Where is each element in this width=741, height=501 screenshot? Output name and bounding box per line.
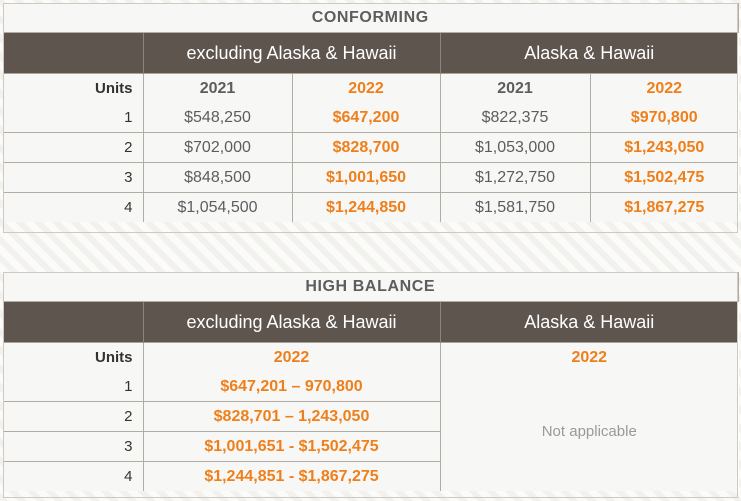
high-balance-row2-units: 2 (3, 402, 143, 432)
conforming-row2-2021-lower48: $702,000 (143, 133, 292, 163)
high-balance-row4-2022-lower48: $1,244,851 - $1,867,275 (143, 462, 440, 492)
conforming-title-row: CONFORMING (3, 3, 738, 33)
high-balance-row1-2022-lower48: $647,201 – 970,800 (143, 372, 440, 402)
conforming-table-card: CONFORMING excluding Alaska & Hawaii Ala… (3, 3, 738, 222)
conforming-region-header-row: excluding Alaska & Hawaii Alaska & Hawai… (3, 33, 738, 74)
conforming-col-2021-lower48: 2021 (143, 74, 292, 104)
conforming-column-header-row: Units 2021 2022 2021 2022 (3, 74, 738, 104)
high-balance-not-applicable: Not applicable (440, 372, 738, 491)
conforming-row3-2021-akhi: $1,272,750 (440, 163, 590, 193)
conforming-row2-2021-akhi: $1,053,000 (440, 133, 590, 163)
page-background: CONFORMING excluding Alaska & Hawaii Ala… (0, 0, 741, 501)
conforming-col-2022-akhi: 2022 (590, 74, 738, 104)
high-balance-column-header-row: Units 2022 2022 (3, 343, 738, 373)
high-balance-col-2022-lower48: 2022 (143, 343, 440, 373)
conforming-row1-units: 1 (3, 103, 143, 133)
high-balance-table-card: HIGH BALANCE excluding Alaska & Hawaii A… (3, 272, 738, 491)
high-balance-region-header-row: excluding Alaska & Hawaii Alaska & Hawai… (3, 302, 738, 343)
conforming-row4-2021-akhi: $1,581,750 (440, 193, 590, 223)
high-balance-row4-units: 4 (3, 462, 143, 492)
high-balance-region-blank (3, 302, 143, 343)
high-balance-region-excluding-ak-hi: excluding Alaska & Hawaii (143, 302, 440, 343)
conforming-row4-2022-lower48: $1,244,850 (292, 193, 440, 223)
conforming-row3-2022-lower48: $1,001,650 (292, 163, 440, 193)
high-balance-col-2022-akhi: 2022 (440, 343, 738, 373)
high-balance-col-units: Units (3, 343, 143, 373)
conforming-row2-2022-akhi: $1,243,050 (590, 133, 738, 163)
high-balance-row3-units: 3 (3, 432, 143, 462)
table-row: 3 $848,500 $1,001,650 $1,272,750 $1,502,… (3, 163, 738, 193)
high-balance-row1-units: 1 (3, 372, 143, 402)
conforming-row3-2021-lower48: $848,500 (143, 163, 292, 193)
conforming-row1-2021-akhi: $822,375 (440, 103, 590, 133)
conforming-row3-2022-akhi: $1,502,475 (590, 163, 738, 193)
conforming-row1-2022-lower48: $647,200 (292, 103, 440, 133)
table-row: 2 $702,000 $828,700 $1,053,000 $1,243,05… (3, 133, 738, 163)
conforming-table: CONFORMING excluding Alaska & Hawaii Ala… (3, 3, 739, 222)
high-balance-region-ak-hi: Alaska & Hawaii (440, 302, 738, 343)
conforming-row4-2021-lower48: $1,054,500 (143, 193, 292, 223)
conforming-row2-2022-lower48: $828,700 (292, 133, 440, 163)
high-balance-title-row: HIGH BALANCE (3, 272, 738, 302)
table-row: 1 $548,250 $647,200 $822,375 $970,800 (3, 103, 738, 133)
conforming-col-2022-lower48: 2022 (292, 74, 440, 104)
conforming-row4-units: 4 (3, 193, 143, 223)
conforming-row3-units: 3 (3, 163, 143, 193)
conforming-region-ak-hi: Alaska & Hawaii (440, 33, 738, 74)
conforming-col-2021-akhi: 2021 (440, 74, 590, 104)
high-balance-title: HIGH BALANCE (3, 272, 738, 302)
conforming-title: CONFORMING (3, 3, 738, 33)
conforming-body: 1 $548,250 $647,200 $822,375 $970,800 2 … (3, 103, 738, 222)
conforming-region-blank (3, 33, 143, 74)
conforming-region-excluding-ak-hi: excluding Alaska & Hawaii (143, 33, 440, 74)
conforming-row4-2022-akhi: $1,867,275 (590, 193, 738, 223)
high-balance-row2-2022-lower48: $828,701 – 1,243,050 (143, 402, 440, 432)
conforming-row1-2022-akhi: $970,800 (590, 103, 738, 133)
high-balance-body: 1 $647,201 – 970,800 Not applicable 2 $8… (3, 372, 738, 491)
high-balance-row3-2022-lower48: $1,001,651 - $1,502,475 (143, 432, 440, 462)
table-row: 4 $1,054,500 $1,244,850 $1,581,750 $1,86… (3, 193, 738, 223)
conforming-row1-2021-lower48: $548,250 (143, 103, 292, 133)
conforming-col-units: Units (3, 74, 143, 104)
table-row: 1 $647,201 – 970,800 Not applicable (3, 372, 738, 402)
high-balance-table: HIGH BALANCE excluding Alaska & Hawaii A… (3, 272, 739, 491)
conforming-row2-units: 2 (3, 133, 143, 163)
